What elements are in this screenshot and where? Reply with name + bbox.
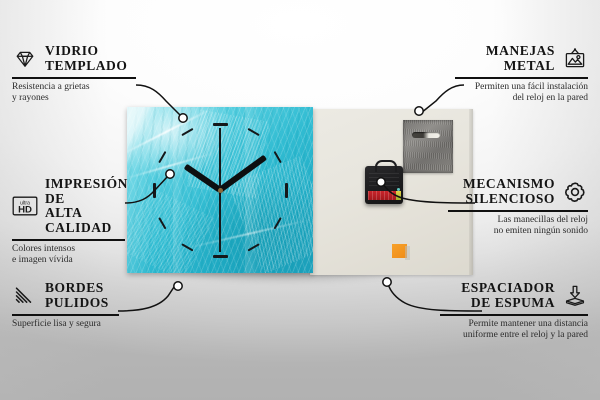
polished-edges-icon [12, 284, 38, 308]
feature-impresion-alta-calidad: ultra HD IMPRESIÓN DE ALTA CALIDAD Color… [12, 177, 125, 267]
mechanism-battery-terminal [396, 191, 401, 200]
feature-divider [455, 77, 588, 79]
hanger-keyhole-slot [412, 132, 440, 138]
feature-description: Superficie lisa y segura [12, 319, 119, 331]
feature-title: MANEJAS METAL [486, 44, 555, 73]
feature-manejas-metal: MANEJAS METAL Permiten una fácil instala… [455, 44, 588, 105]
feature-divider [12, 77, 136, 79]
feature-divider [12, 314, 119, 316]
feature-espaciador-espuma: ESPACIADOR DE ESPUMA Permite mantener un… [440, 281, 588, 342]
feature-title: BORDES PULIDOS [45, 281, 109, 310]
feature-description: Permiten una fácil instalación del reloj… [455, 82, 588, 105]
infographic-canvas: VIDRIO TEMPLADO Resistencia a grietas y … [0, 0, 600, 400]
feature-title: IMPRESIÓN DE ALTA CALIDAD [45, 177, 128, 235]
feature-divider [12, 239, 125, 241]
clock-tick [285, 183, 288, 198]
gear-icon [562, 180, 588, 204]
clock-face [127, 107, 313, 273]
svg-text:HD: HD [18, 204, 32, 215]
foam-spacer [392, 244, 407, 258]
feature-header: BORDES PULIDOS [12, 281, 119, 310]
feature-vidrio-templado: VIDRIO TEMPLADO Resistencia a grietas y … [12, 44, 136, 105]
feature-description: Las manecillas del reloj no emiten ningú… [448, 215, 588, 238]
clock-center-pin [218, 188, 223, 193]
hanger-plate [403, 120, 453, 173]
clock-tick [213, 255, 228, 258]
feature-header: ESPACIADOR DE ESPUMA [440, 281, 588, 310]
feature-description: Colores intensos e imagen vívida [12, 244, 125, 267]
feature-title: MECANISMO SILENCIOSO [463, 177, 555, 206]
feature-description: Permite mantener una distancia uniforme … [440, 319, 588, 342]
feature-title: ESPACIADOR DE ESPUMA [461, 281, 555, 310]
feature-title: VIDRIO TEMPLADO [45, 44, 127, 73]
feature-header: MANEJAS METAL [455, 44, 588, 73]
diamond-icon [12, 47, 38, 71]
ultra-hd-icon: ultra HD [12, 194, 38, 218]
clock-tick [153, 183, 156, 198]
product-image [127, 107, 473, 277]
feature-header: ultra HD IMPRESIÓN DE ALTA CALIDAD [12, 177, 125, 235]
feature-header: MECANISMO SILENCIOSO [448, 177, 588, 206]
feature-header: VIDRIO TEMPLADO [12, 44, 136, 73]
clock-mechanism [365, 166, 403, 204]
foam-spacer-icon [562, 284, 588, 308]
mechanism-vent-grid [369, 171, 399, 186]
feature-divider [448, 210, 588, 212]
feature-divider [440, 314, 588, 316]
feature-bordes-pulidos: BORDES PULIDOS Superficie lisa y segura [12, 281, 119, 330]
picture-hanger-icon [562, 47, 588, 71]
feature-mecanismo-silencioso: MECANISMO SILENCIOSO Las manecillas del … [448, 177, 588, 238]
clock-tick [213, 123, 228, 126]
feature-description: Resistencia a grietas y rayones [12, 82, 136, 105]
